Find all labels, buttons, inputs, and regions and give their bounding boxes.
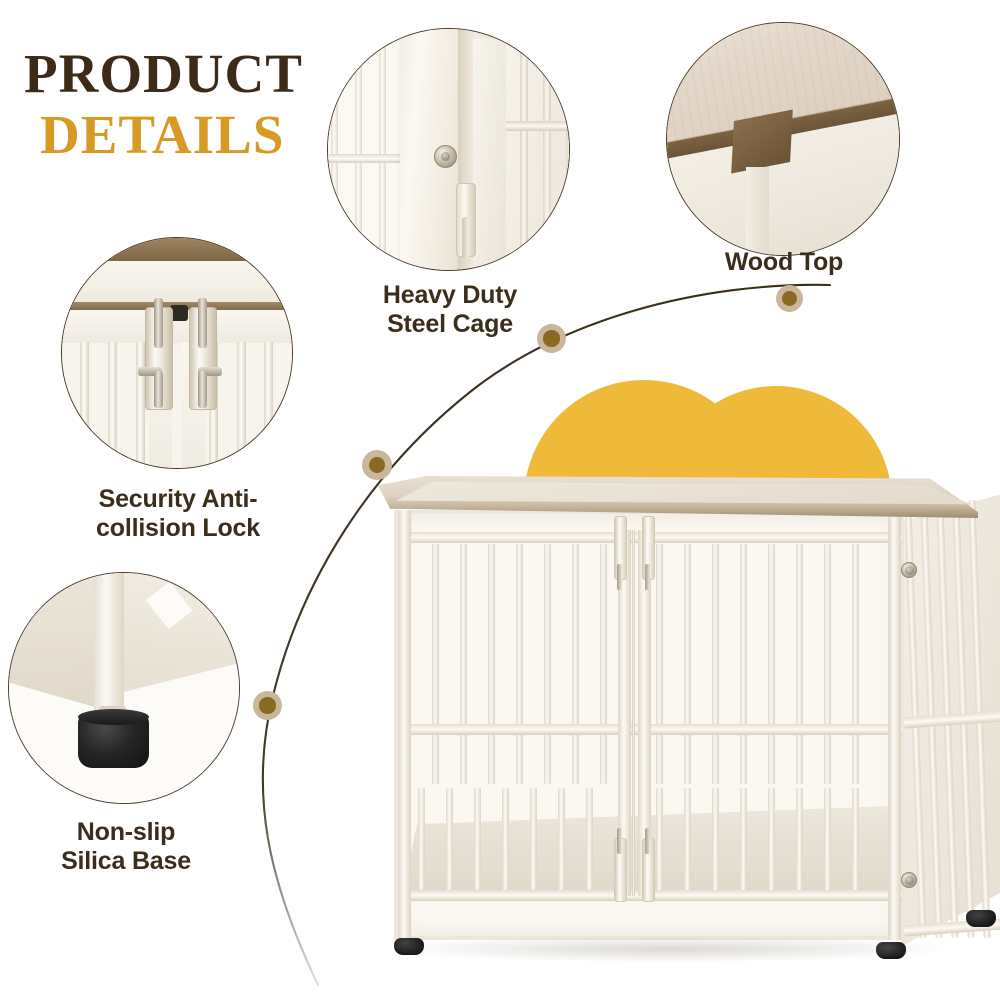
latch-pin-bottom-right (645, 828, 650, 854)
lock-bar (80, 342, 89, 470)
door-bar (768, 544, 775, 784)
lock-upper-panel (61, 261, 293, 302)
door-bar (502, 788, 509, 896)
steel-cage-bar-panel (327, 39, 405, 261)
door-bar (740, 788, 747, 896)
caption-line-1: Heavy Duty (330, 281, 570, 310)
security-bolt-shaft-left (154, 371, 163, 408)
caption-line-1: Security Anti- (58, 485, 298, 514)
door-bar (852, 788, 859, 896)
lock-wood-top-edge (61, 238, 293, 261)
base-leg (94, 572, 124, 711)
caption-line-2: collision Lock (58, 514, 298, 543)
security-bolt-shaft-right (198, 371, 207, 408)
latch-pin-top-left (617, 564, 622, 590)
detail-photo-security-lock (61, 237, 293, 469)
non-slip-rubber-foot-top (78, 709, 149, 725)
product-shadow (390, 936, 950, 962)
door-bar (530, 788, 537, 896)
latch-pin-bottom-left (617, 828, 622, 854)
door-bar (712, 544, 719, 784)
steel-cage-right-section (506, 28, 570, 271)
door-bar (600, 544, 607, 784)
door-bar (586, 788, 593, 896)
door-bar (656, 788, 663, 896)
lock-bar (136, 342, 145, 470)
hinge-screw-bottom (901, 872, 917, 888)
lock-bar (264, 342, 273, 470)
door-bar (460, 544, 467, 784)
page-title-line1: PRODUCT (18, 46, 348, 101)
caption-wood-top: Wood Top (668, 248, 900, 277)
detail-photo-wood-top (666, 22, 900, 256)
door-bar (824, 544, 831, 784)
detail-photo-non-slip-base (8, 572, 240, 804)
door-bar (768, 788, 775, 896)
lock-bar (108, 342, 117, 470)
caption-security-lock: Security Anti- collision Lock (58, 485, 298, 544)
door-bar (488, 544, 495, 784)
steel-cage-right-rail (506, 121, 570, 131)
dot-base (253, 691, 282, 720)
latch-pin-top-right (645, 564, 650, 590)
door-bar (740, 544, 747, 784)
door-bar (684, 788, 691, 896)
detail-photo-heavy-duty-steel-cage (327, 28, 570, 271)
door-bar (418, 788, 425, 896)
hero-product-image (330, 380, 1000, 980)
door-bar (474, 788, 481, 896)
door-bar (558, 788, 565, 896)
front-right-stile (888, 506, 901, 940)
steel-cage-screw-icon (434, 145, 457, 168)
caption-line-1: Non-slip (8, 818, 244, 847)
door-bar (796, 544, 803, 784)
door-bar (544, 544, 551, 784)
door-bar (824, 788, 831, 896)
page-title-line2: DETAILS (18, 107, 348, 162)
caption-non-slip-base: Non-slip Silica Base (8, 818, 244, 877)
caption-line-1: Wood Top (668, 248, 900, 277)
product-details-infographic: PRODUCT DETAILS (0, 0, 1000, 1000)
dog-crate-furniture (356, 476, 984, 956)
hinge-screw-top (901, 562, 917, 578)
security-bolt-pin-left (154, 298, 163, 349)
door-bar (796, 788, 803, 896)
caption-heavy-duty-steel-cage: Heavy Duty Steel Cage (330, 281, 570, 340)
door-bar (656, 544, 663, 784)
door-bar (572, 544, 579, 784)
door-bar (684, 544, 691, 784)
dot-wood-top (776, 285, 803, 312)
page-title: PRODUCT DETAILS (18, 46, 348, 162)
steel-cage-latch-pin (462, 217, 469, 259)
wood-top-leg (746, 167, 769, 256)
door-bar (516, 544, 523, 784)
door-bar (712, 788, 719, 896)
crate-foot-back-right (966, 910, 996, 927)
door-bar (446, 788, 453, 896)
caption-line-2: Silica Base (8, 847, 244, 876)
door-bar (432, 544, 439, 784)
caption-line-2: Steel Cage (330, 310, 570, 339)
security-bolt-pin-right (198, 298, 207, 349)
lock-bar (237, 342, 246, 470)
door-center-seam (632, 530, 635, 896)
steel-cage-horizontal-rail (327, 154, 410, 163)
front-left-stile (398, 510, 411, 940)
door-bar (852, 544, 859, 784)
